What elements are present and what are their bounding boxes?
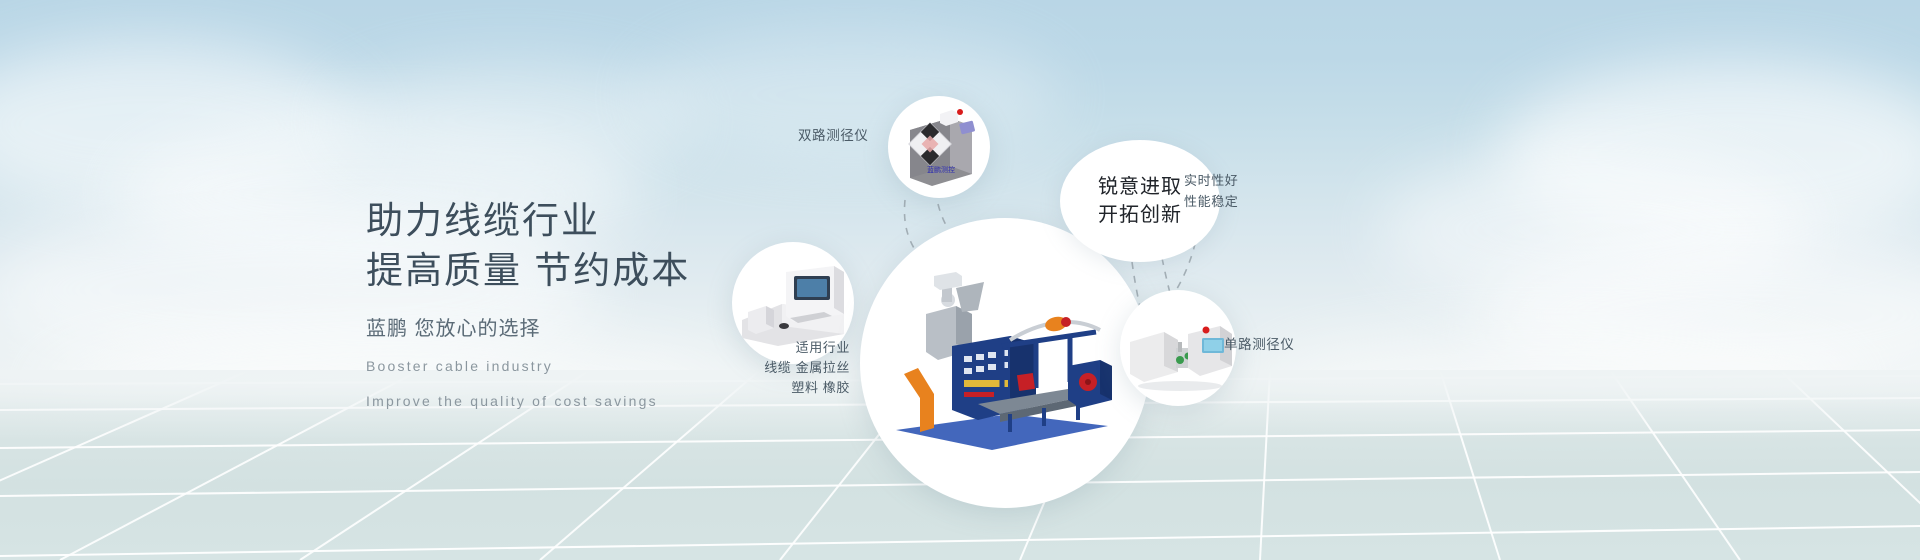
slogan-text: 锐意进取 开拓创新 (1098, 173, 1182, 229)
label-dual-gauge: 双路测径仪 (798, 126, 869, 146)
dual-gauge-bubble: 蓝鹏测控 (888, 96, 990, 198)
headline-block: 助力线缆行业 提高质量 节约成本 蓝鹏 您放心的选择 Booster cable… (366, 196, 690, 414)
subtitle-chinese: 蓝鹏 您放心的选择 (366, 314, 690, 344)
single-channel-diameter-gauge-icon (1120, 290, 1236, 406)
device-brand-text: 蓝鹏测控 (927, 165, 955, 174)
label-features: 实时性好 性能稳定 (1184, 170, 1238, 212)
dual-channel-diameter-gauge-icon: 蓝鹏测控 (888, 96, 990, 198)
industry-line-2: 塑料 橡胶 (718, 378, 850, 398)
single-gauge-bubble (1120, 290, 1236, 406)
headline-line-2: 提高质量 节约成本 (366, 246, 690, 296)
subtitle-english-1: Booster cable industry (366, 354, 690, 379)
subtitle-english-2: Improve the quality of cost savings (366, 389, 690, 414)
slogan-line-1: 锐意进取 (1098, 173, 1182, 201)
feature-line-1: 实时性好 (1184, 170, 1238, 191)
product-composition: 蓝鹏测控 (700, 0, 1920, 560)
promo-banner: 助力线缆行业 提高质量 节约成本 蓝鹏 您放心的选择 Booster cable… (0, 0, 1920, 560)
extrusion-line-bubble (860, 218, 1150, 508)
cable-extrusion-line-icon (860, 218, 1150, 508)
industry-title: 适用行业 (718, 338, 850, 358)
headline-line-1: 助力线缆行业 (366, 196, 690, 246)
label-industry: 适用行业 线缆 金属拉丝 塑料 橡胶 (718, 338, 850, 398)
slogan-line-2: 开拓创新 (1098, 201, 1182, 229)
connector-lines-icon (700, 0, 1920, 560)
industry-line-1: 线缆 金属拉丝 (718, 358, 850, 378)
label-single-gauge: 单路测径仪 (1224, 335, 1295, 355)
cloud-decoration (330, 60, 690, 180)
feature-line-2: 性能稳定 (1184, 191, 1238, 212)
